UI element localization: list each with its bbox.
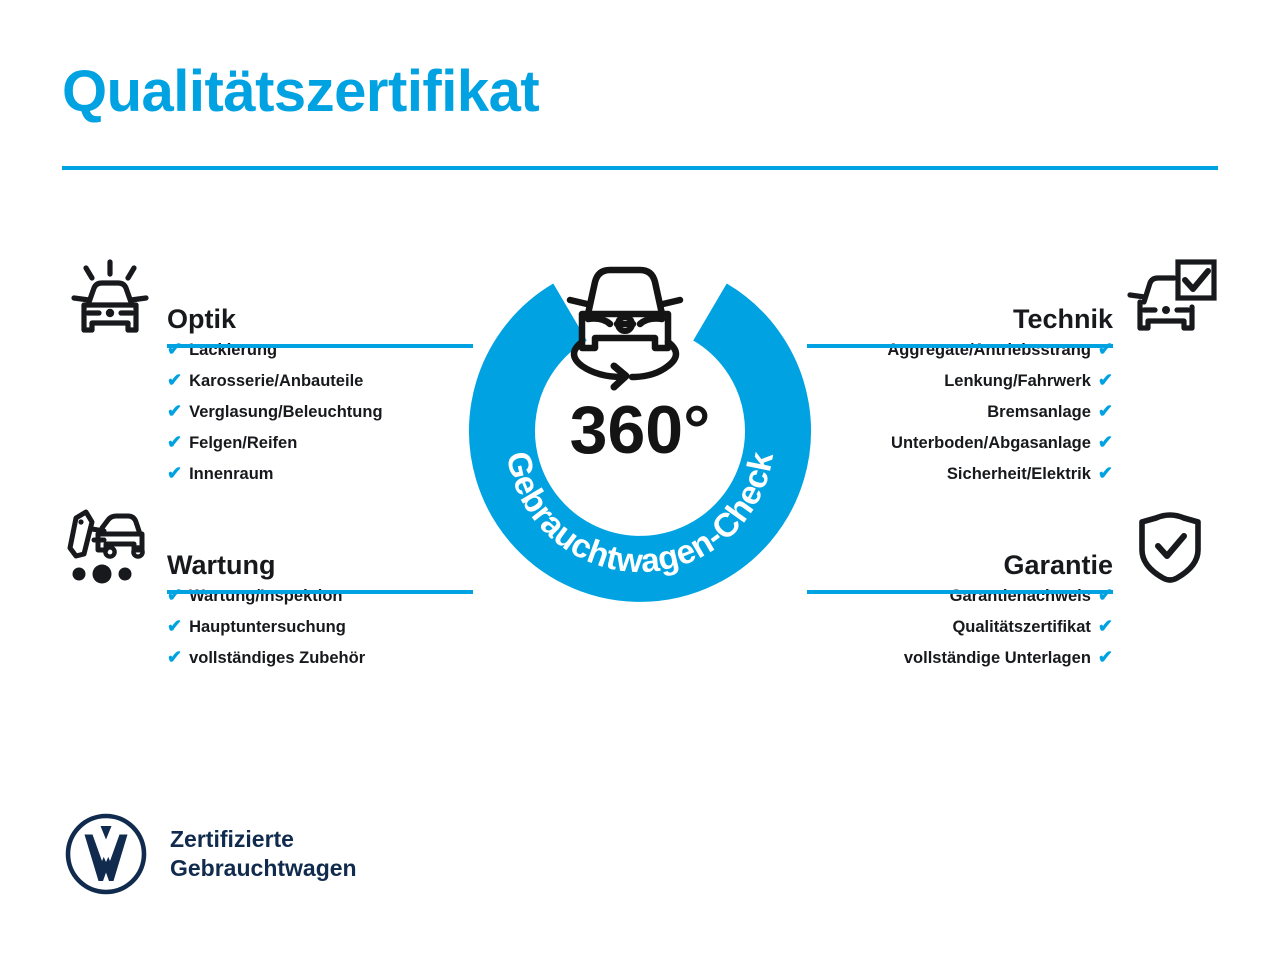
check-icon: ✔: [1098, 463, 1113, 483]
section-wartung-title: Wartung: [167, 504, 473, 579]
car-rotate-360-icon: [570, 270, 680, 387]
list-item-label: Qualitätszertifikat: [952, 618, 1090, 636]
list-item: Lenkung/Fahrwerk✔: [803, 365, 1113, 396]
list-item: vollständige Unterlagen✔: [803, 642, 1113, 673]
list-item: ✔Hauptuntersuchung: [167, 611, 477, 642]
section-garantie-header: Garantie: [803, 504, 1218, 574]
check-icon: ✔: [167, 616, 182, 636]
list-item: ✔vollständiges Zubehör: [167, 642, 477, 673]
section-optik-divider: [167, 344, 473, 348]
list-item-label: Unterboden/Abgasanlage: [891, 434, 1091, 452]
list-item-label: vollständiges Zubehör: [189, 649, 365, 667]
section-technik-title: Technik: [807, 258, 1113, 333]
list-item-label: Sicherheit/Elektrik: [947, 465, 1091, 483]
section-optik-header: Optik: [62, 258, 477, 328]
check-icon: ✔: [1098, 616, 1113, 636]
list-item-label: Verglasung/Beleuchtung: [189, 403, 382, 421]
list-item: ✔Verglasung/Beleuchtung: [167, 396, 477, 427]
list-item: Sicherheit/Elektrik✔: [803, 458, 1113, 489]
list-item: Bremsanlage✔: [803, 396, 1113, 427]
check-icon: ✔: [167, 401, 182, 421]
section-garantie-divider: [807, 590, 1113, 594]
check-icon: ✔: [1098, 401, 1113, 421]
section-optik-title-wrap: Optik: [167, 258, 473, 348]
section-optik-list: ✔Lackierung ✔Karosserie/Anbauteile ✔Verg…: [62, 328, 477, 489]
car-front-shine-icon: [62, 258, 158, 348]
badge-center-label: 360°: [570, 392, 711, 468]
section-technik: Technik Aggregate/Antriebsstrang✔ Lenkun…: [803, 258, 1218, 489]
check-icon: ✔: [167, 463, 182, 483]
list-item-label: Hauptuntersuchung: [189, 618, 346, 636]
check-icon: ✔: [167, 370, 182, 390]
section-optik: Optik ✔Lackierung ✔Karosserie/Anbauteile…: [62, 258, 477, 489]
list-item-label: Bremsanlage: [987, 403, 1091, 421]
footer-line-2: Gebrauchtwagen: [170, 854, 357, 883]
list-item-label: Felgen/Reifen: [189, 434, 297, 452]
list-item: Unterboden/Abgasanlage✔: [803, 427, 1113, 458]
footer-line-1: Zertifizierte: [170, 825, 357, 854]
section-technik-list: Aggregate/Antriebsstrang✔ Lenkung/Fahrwe…: [803, 328, 1218, 489]
title-divider: [62, 166, 1218, 170]
check-icon: ✔: [1098, 432, 1113, 452]
list-item: ✔Innenraum: [167, 458, 477, 489]
car-service-wrench-icon: [62, 504, 158, 594]
gebrauchtwagen-check-badge: Gebrauchtwagen-Check 360°: [466, 248, 814, 618]
footer-logo: Zertifizierte Gebrauchtwagen: [64, 812, 357, 896]
check-icon: ✔: [1098, 370, 1113, 390]
list-item: ✔Felgen/Reifen: [167, 427, 477, 458]
volkswagen-logo: [64, 812, 148, 896]
section-technik-header: Technik: [803, 258, 1218, 328]
section-technik-title-wrap: Technik: [807, 258, 1113, 348]
shield-check-icon: [1122, 504, 1218, 594]
section-garantie-title-wrap: Garantie: [807, 504, 1113, 594]
check-icon: ✔: [1098, 647, 1113, 667]
section-wartung: Wartung ✔Wartung/Inspektion ✔Hauptunters…: [62, 504, 477, 673]
list-item: Qualitätszertifikat✔: [803, 611, 1113, 642]
list-item: ✔Karosserie/Anbauteile: [167, 365, 477, 396]
section-garantie-title: Garantie: [807, 504, 1113, 579]
check-icon: ✔: [167, 647, 182, 667]
list-item-label: Lenkung/Fahrwerk: [944, 372, 1091, 390]
section-wartung-header: Wartung: [62, 504, 477, 574]
section-garantie: Garantie Garantienachweis✔ Qualitätszert…: [803, 504, 1218, 673]
check-icon: ✔: [167, 432, 182, 452]
list-item-label: Innenraum: [189, 465, 273, 483]
list-item-label: Karosserie/Anbauteile: [189, 372, 363, 390]
footer-text: Zertifizierte Gebrauchtwagen: [170, 825, 357, 884]
section-optik-title: Optik: [167, 258, 473, 333]
page-title: Qualitätszertifikat: [62, 60, 539, 124]
car-front-checkbox-icon: [1122, 258, 1218, 348]
section-technik-divider: [807, 344, 1113, 348]
section-wartung-title-wrap: Wartung: [167, 504, 473, 594]
list-item-label: vollständige Unterlagen: [904, 649, 1091, 667]
section-wartung-divider: [167, 590, 473, 594]
